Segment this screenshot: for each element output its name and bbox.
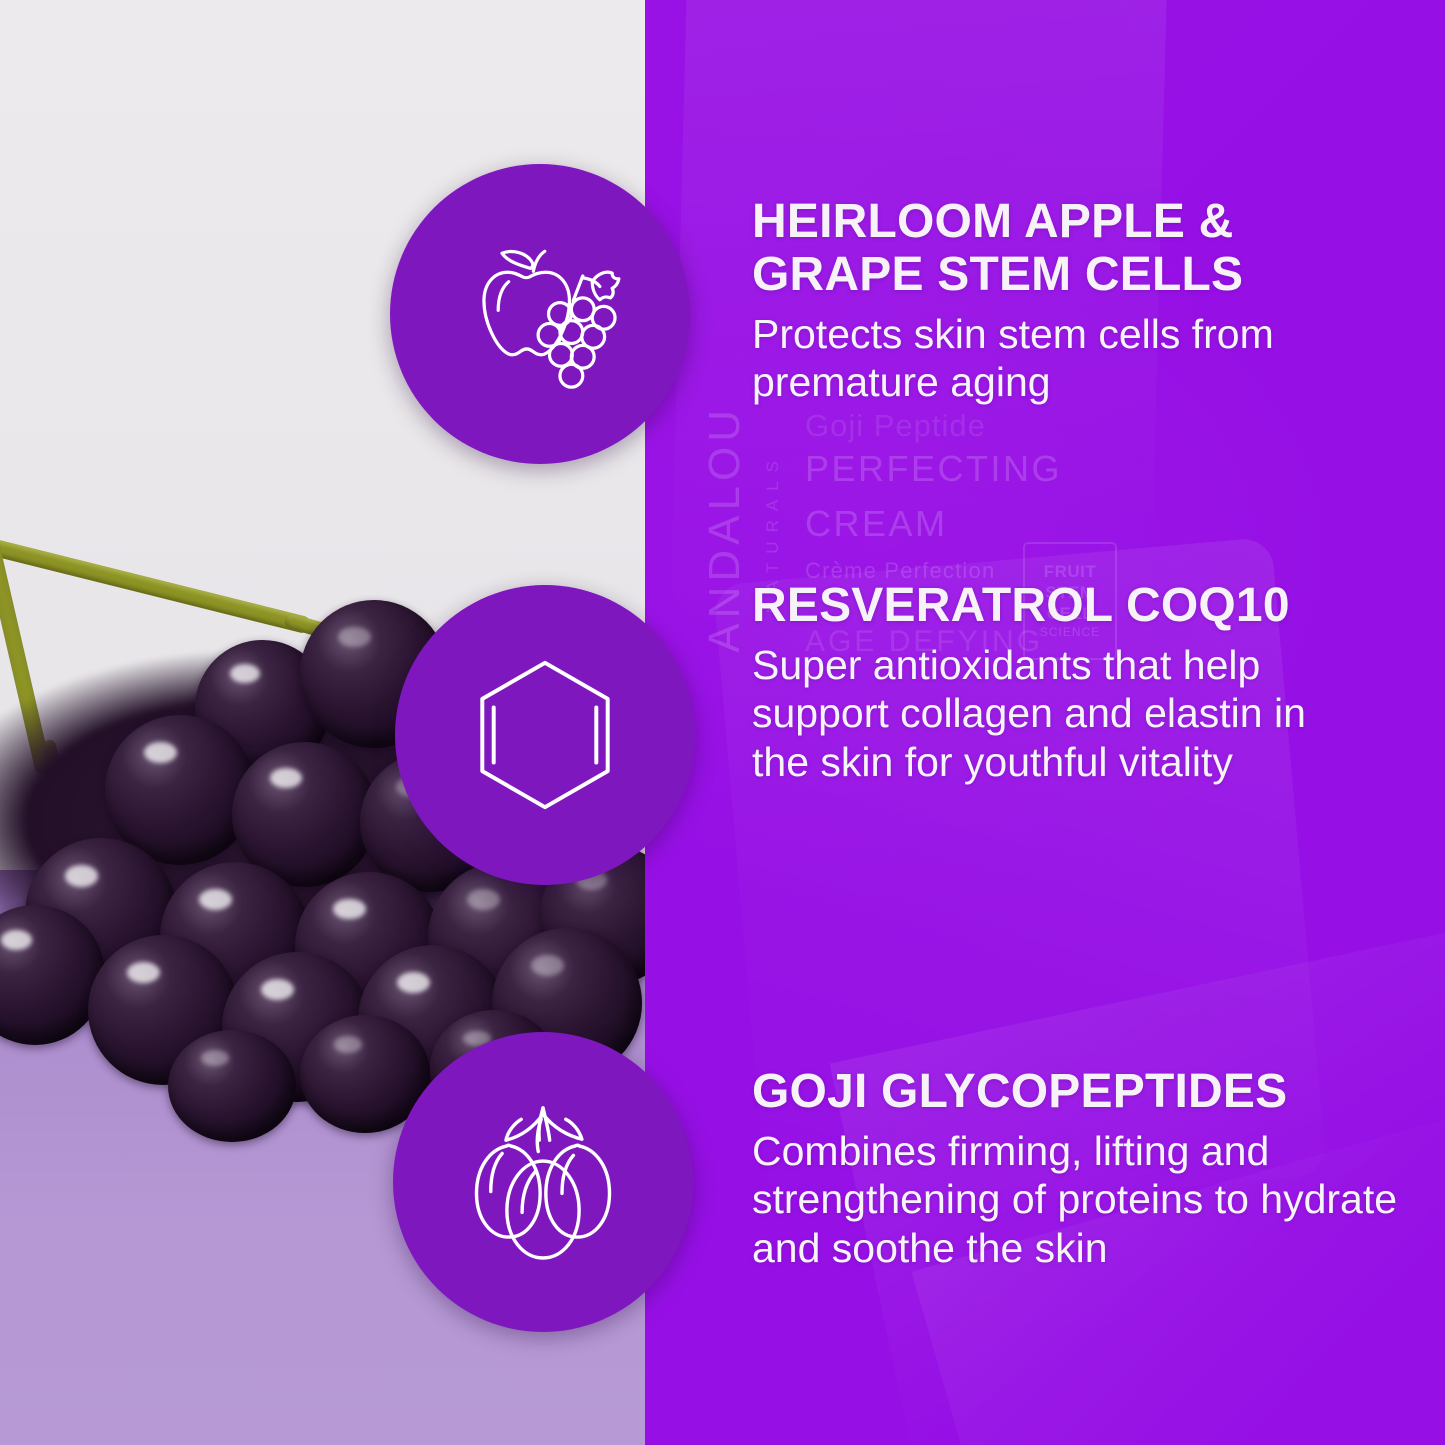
grape-berry — [168, 1030, 296, 1142]
feature-icon-circle-goji — [393, 1032, 693, 1332]
feature-title: RESVERATROL COQ10 — [752, 580, 1352, 633]
feature-icon-circle-apple-grapes — [390, 164, 690, 464]
feature-text-apple-grape-stem-cells: HEIRLOOM APPLE & GRAPE STEM CELLS Protec… — [752, 196, 1392, 406]
goji-berries-icon — [448, 1087, 638, 1277]
feature-title: GOJI GLYCOPEPTIDES — [752, 1066, 1412, 1119]
feature-description: Combines firming, lifting and strengthen… — [752, 1127, 1412, 1272]
feature-text-resveratrol-coq10: RESVERATROL COQ10 Super antioxidants tha… — [752, 580, 1352, 786]
feature-text-goji-glycopeptides: GOJI GLYCOPEPTIDES Combines firming, lif… — [752, 1066, 1412, 1272]
feature-title: HEIRLOOM APPLE & GRAPE STEM CELLS — [752, 196, 1392, 302]
infographic-canvas: ANDALOU NATURALS Goji Peptide PERFECTING… — [0, 0, 1445, 1445]
feature-description: Protects skin stem cells from premature … — [752, 310, 1392, 407]
feature-description: Super antioxidants that help support col… — [752, 641, 1352, 786]
molecule-hexagon-icon — [450, 640, 640, 830]
feature-icon-circle-molecule — [395, 585, 695, 885]
apple-and-grapes-icon — [445, 219, 635, 409]
